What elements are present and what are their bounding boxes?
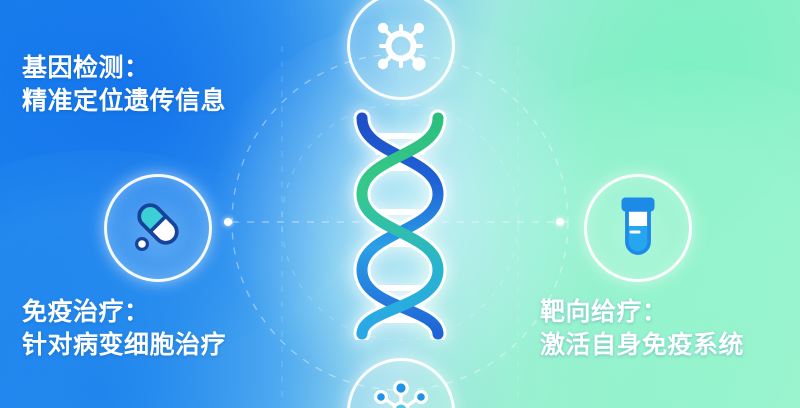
label-genetic-testing-line1: 基因检测： bbox=[22, 52, 226, 85]
label-immunotherapy-line1: 免疫治疗： bbox=[22, 296, 226, 329]
label-genetic-testing: 基因检测： 精准定位遗传信息 bbox=[22, 52, 226, 117]
icon-bubble-capsule[interactable] bbox=[104, 174, 212, 282]
label-immunotherapy: 免疫治疗： 针对病变细胞治疗 bbox=[22, 296, 226, 361]
connector-dot-right bbox=[556, 218, 564, 226]
capsule-pill-icon bbox=[126, 196, 190, 260]
label-immunotherapy-line2: 针对病变细胞治疗 bbox=[22, 329, 226, 362]
dna-double-helix-icon bbox=[336, 108, 464, 340]
infographic-canvas: 基因检测： 精准定位遗传信息 免疫治疗： 针对病变细胞治疗 靶向给疗： 激活自身… bbox=[0, 0, 800, 408]
label-targeted-therapy: 靶向给疗： 激活自身免疫系统 bbox=[540, 296, 744, 361]
molecule-network-icon bbox=[366, 377, 436, 408]
label-genetic-testing-line2: 精准定位遗传信息 bbox=[22, 85, 226, 118]
label-targeted-therapy-line2: 激活自身免疫系统 bbox=[540, 329, 744, 362]
label-targeted-therapy-line1: 靶向给疗： bbox=[540, 296, 744, 329]
virus-icon bbox=[370, 15, 432, 77]
connector-dot-left bbox=[224, 218, 232, 226]
test-tube-icon bbox=[609, 196, 667, 260]
icon-bubble-test-tube[interactable] bbox=[584, 174, 692, 282]
